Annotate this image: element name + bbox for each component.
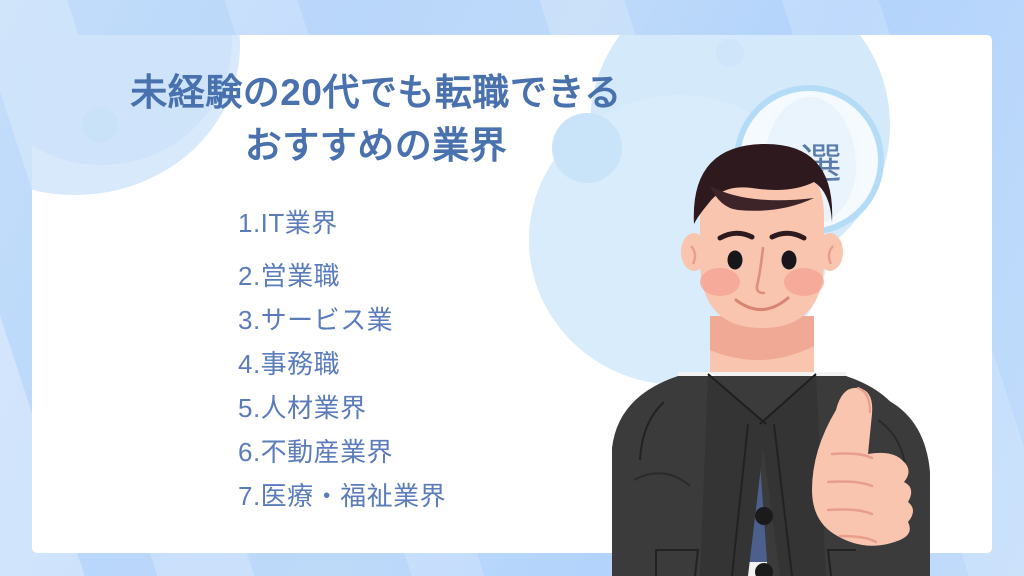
list-item: 1.IT業界	[238, 210, 446, 236]
list-item: 6.不動産業界	[238, 439, 446, 465]
eye-right	[782, 251, 797, 270]
industry-list: 1.IT業界 2.営業職 3.サービス業 4.事務職 5.人材業界 6.不動産業…	[238, 210, 446, 509]
blush-left	[700, 268, 740, 296]
jacket-button-top	[755, 507, 773, 525]
list-item: 7.医療・福祉業界	[238, 483, 446, 509]
eye-left	[728, 251, 743, 270]
businessman-illustration	[560, 120, 980, 576]
slide-canvas: 7選 未経験の20代でも転職できる おすすめの業界 1.IT業界 2.営業職 3…	[0, 0, 1024, 576]
list-item: 2.営業職	[238, 263, 446, 289]
list-item: 3.サービス業	[238, 307, 446, 333]
list-item: 4.事務職	[238, 351, 446, 377]
blush-right	[784, 268, 824, 296]
list-item: 5.人材業界	[238, 395, 446, 421]
decorative-dot-right-tiny	[716, 39, 744, 67]
